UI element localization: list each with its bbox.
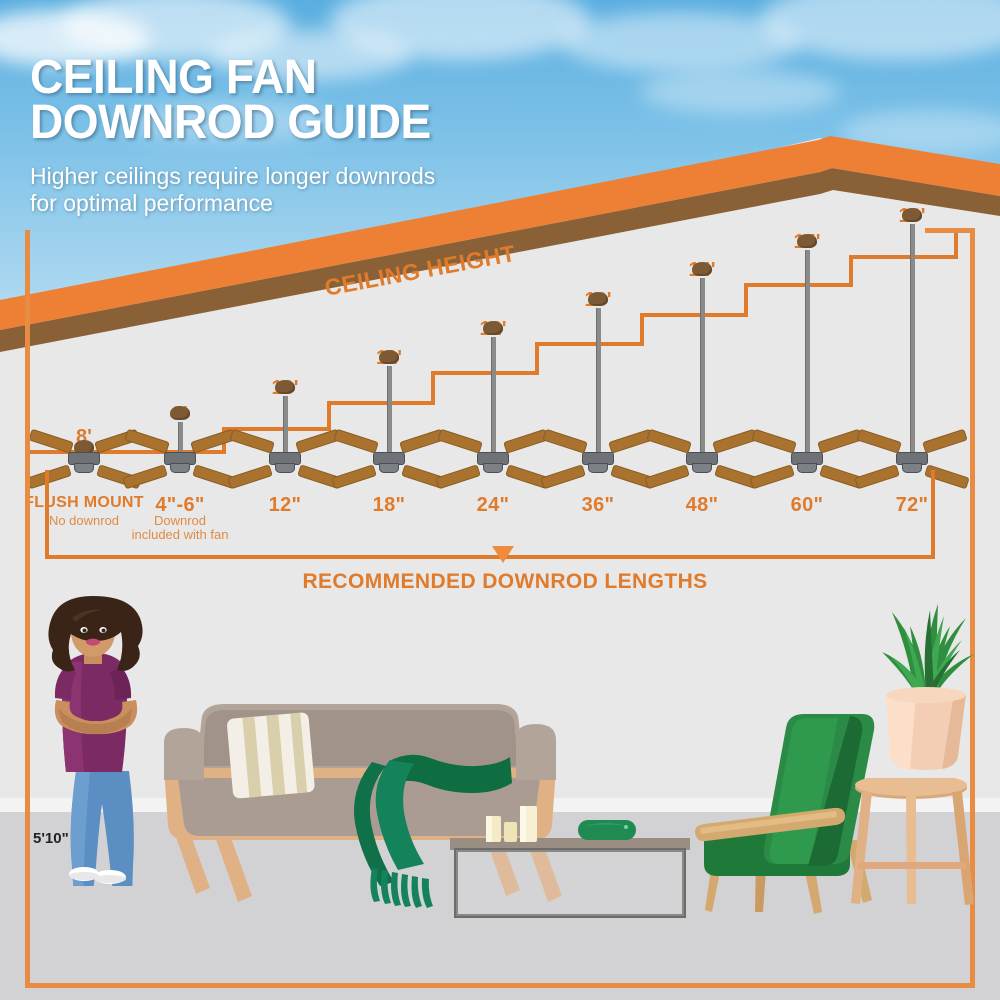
coffee-table [450, 838, 690, 928]
potted-aloe-plant [872, 598, 982, 788]
candle-group [486, 800, 550, 842]
green-bowl [578, 818, 638, 842]
plant-stand [836, 778, 986, 918]
person-height-label: 5'10" [33, 830, 69, 847]
frame-top-right-segment [925, 228, 975, 233]
infographic-canvas: CEILING FAN DOWNROD GUIDE Higher ceiling… [0, 0, 1000, 1000]
